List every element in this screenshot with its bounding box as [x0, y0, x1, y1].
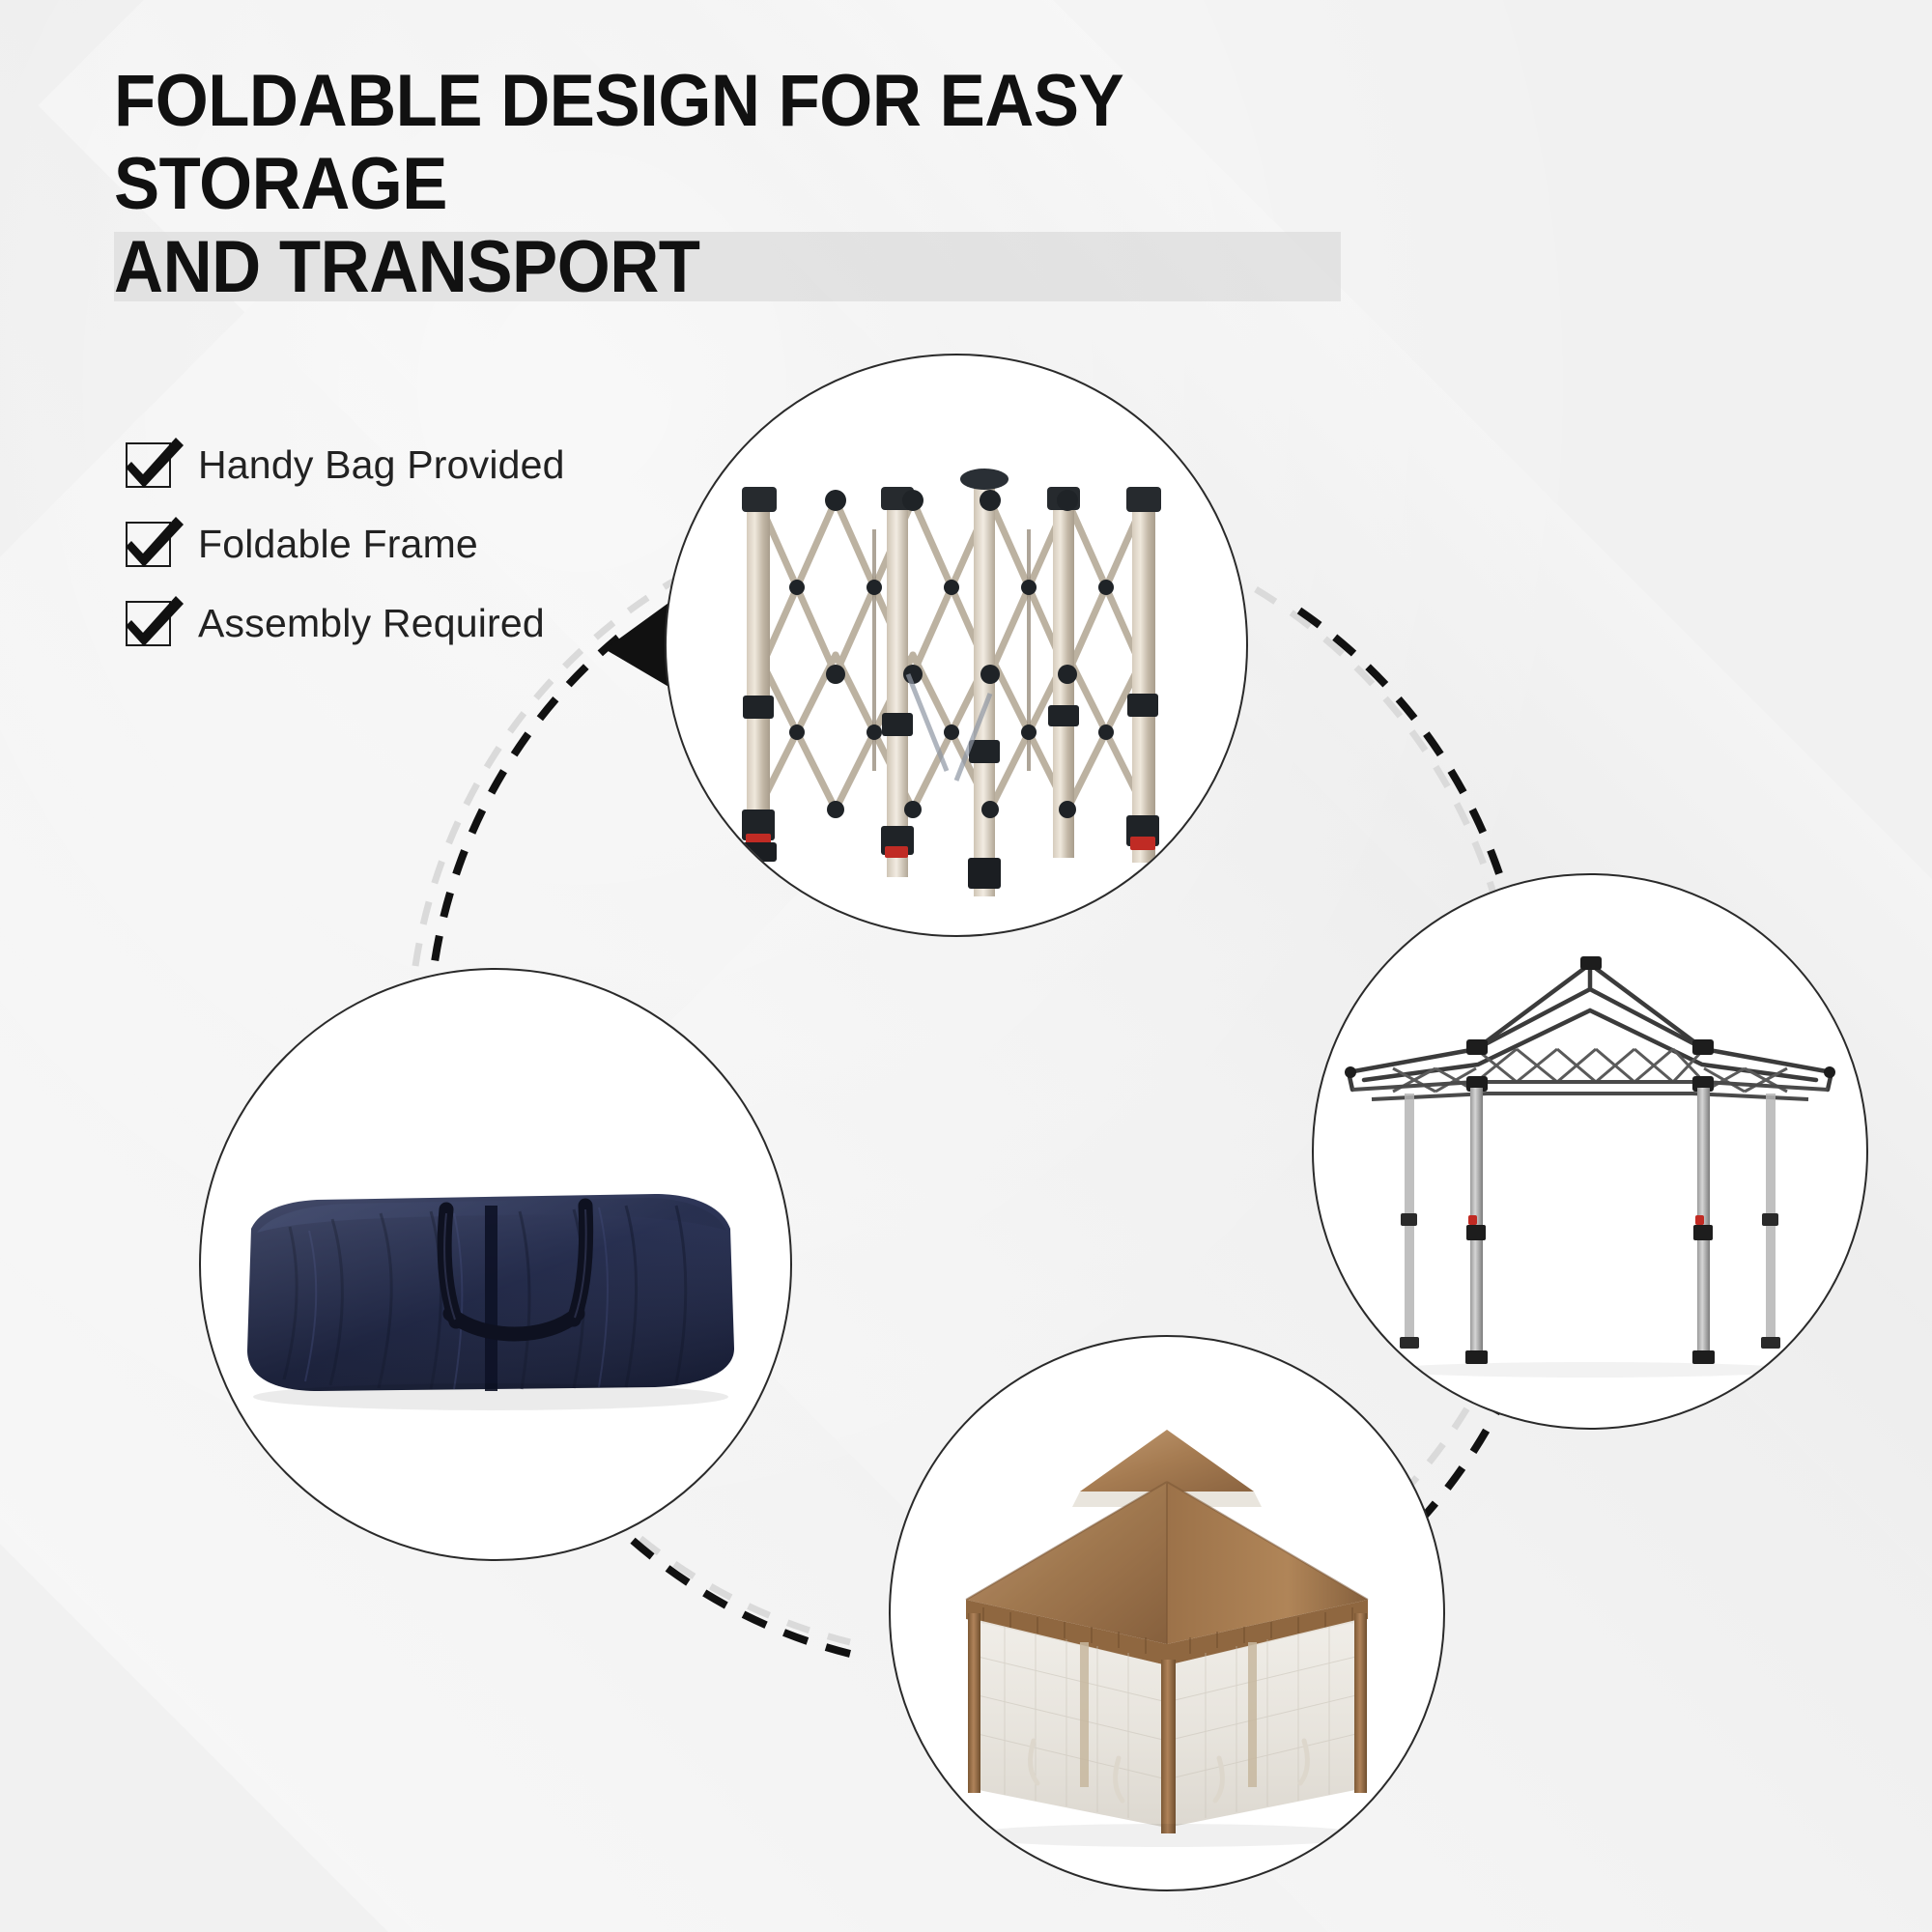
- feature-item-foldable-frame: Foldable Frame: [126, 504, 667, 583]
- feature-item-label: Handy Bag Provided: [198, 442, 565, 488]
- feature-item-handy-bag: Handy Bag Provided: [126, 425, 667, 504]
- product-circle-carry-bag: [199, 968, 792, 1561]
- feature-item-assembly-required: Assembly Required: [126, 583, 667, 663]
- feature-item-label: Assembly Required: [198, 601, 545, 646]
- checkbox-checked-icon: [126, 601, 171, 646]
- page-title: FOLDABLE DESIGN FOR EASY STORAGE AND TRA…: [114, 60, 1372, 309]
- arrow-bag-to-frame: [430, 638, 618, 1005]
- gazebo-post-right: [1354, 1613, 1367, 1793]
- product-circle-gazebo: [889, 1335, 1445, 1891]
- product-circle-folded-frame: [665, 354, 1248, 937]
- gazebo-post-left: [968, 1613, 980, 1793]
- gazebo-post-center: [1161, 1660, 1176, 1833]
- checkbox-checked-icon: [126, 522, 171, 567]
- infographic-canvas: FOLDABLE DESIGN FOR EASY STORAGE AND TRA…: [0, 0, 1932, 1932]
- page-title-block: FOLDABLE DESIGN FOR EASY STORAGE AND TRA…: [114, 60, 1466, 309]
- checkbox-checked-icon: [126, 442, 171, 488]
- feature-checklist: Handy Bag Provided Foldable Frame Assemb…: [126, 425, 667, 663]
- feature-item-label: Foldable Frame: [198, 522, 478, 567]
